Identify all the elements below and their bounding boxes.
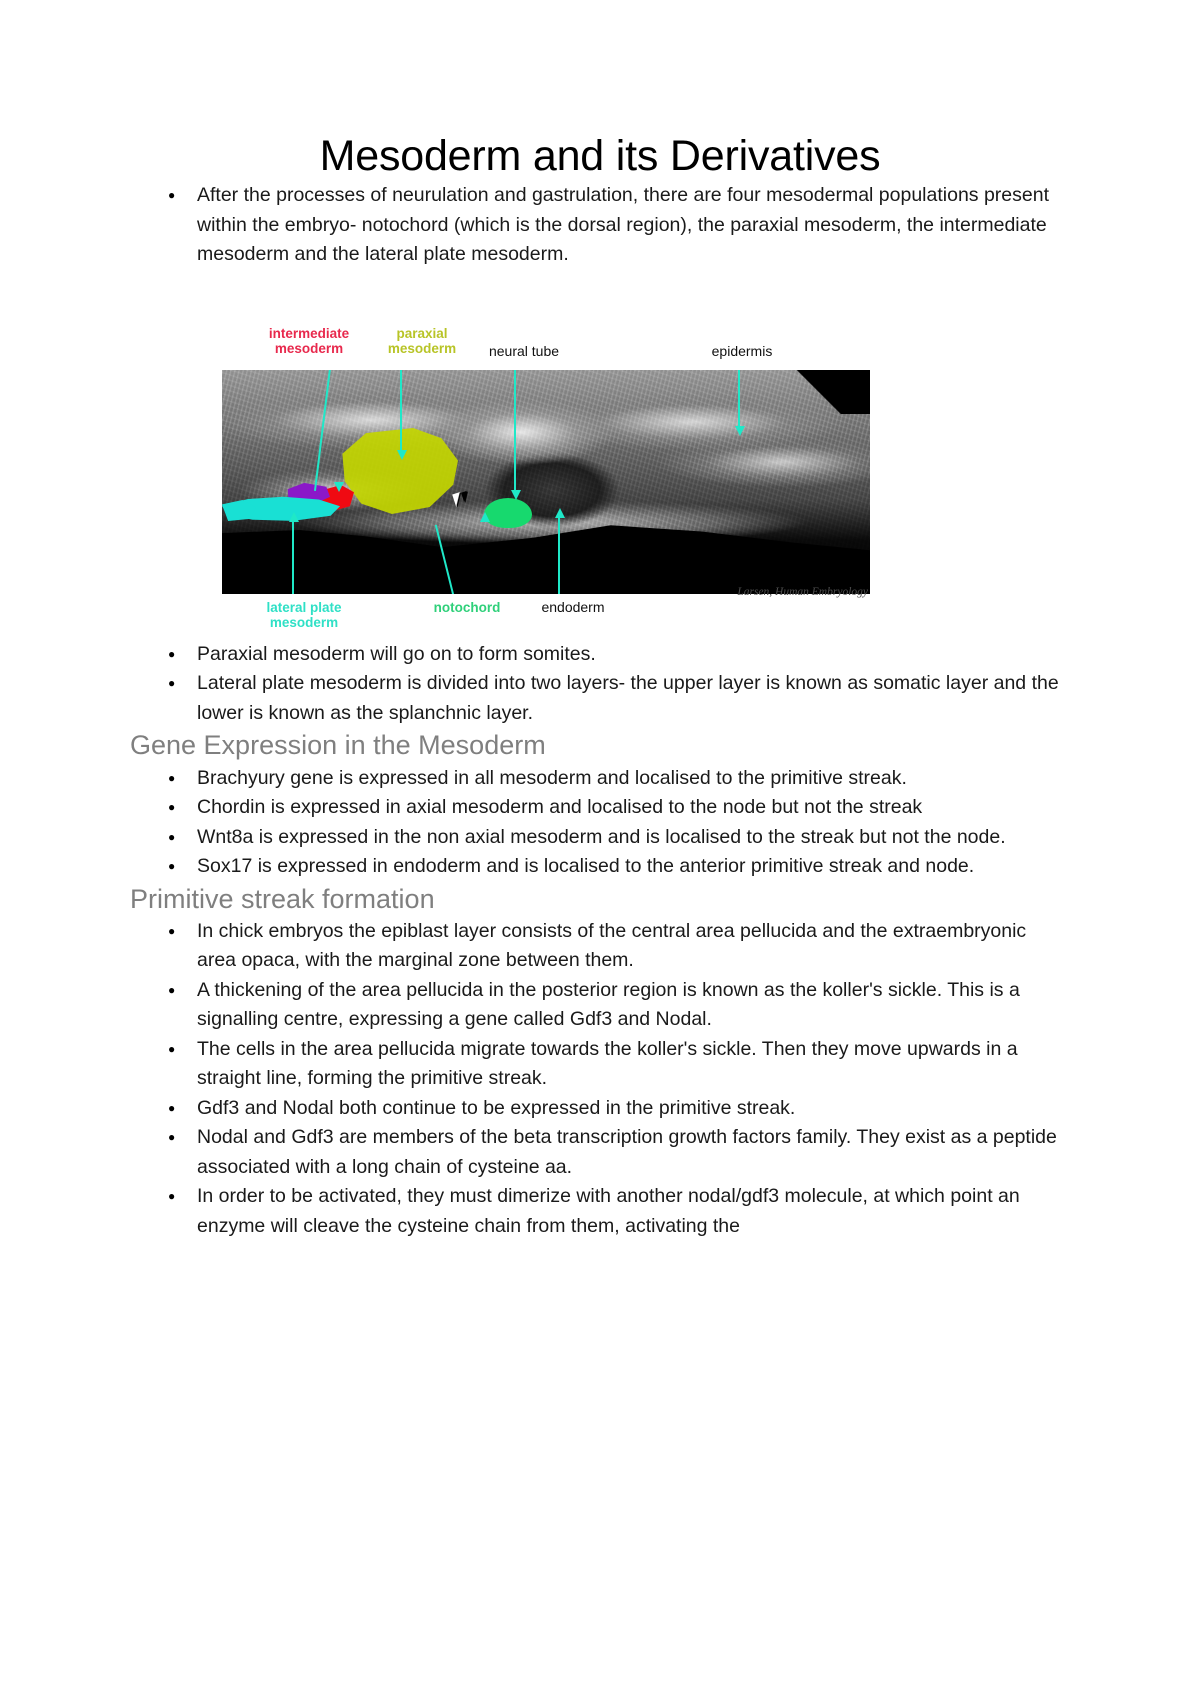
list-item: Nodal and Gdf3 are members of the beta t… [130, 1123, 1070, 1182]
document-page: Mesoderm and its Derivatives After the p… [0, 0, 1200, 1698]
arrowhead-endoderm [555, 508, 565, 518]
list-item: The cells in the area pellucida migrate … [130, 1035, 1070, 1094]
list-item: Lateral plate mesoderm is divided into t… [130, 669, 1070, 728]
figure-label-endoderm: endoderm [518, 600, 628, 615]
figure-top-labels: intermediate mesoderm paraxial mesoderm … [222, 318, 874, 370]
embryo-cross-section-figure: intermediate mesoderm paraxial mesoderm … [222, 318, 874, 640]
primitive-streak-bullet-list: In chick embryos the epiblast layer cons… [130, 917, 1070, 1242]
figure-label-neural-tube: neural tube [464, 344, 584, 359]
list-item: In order to be activated, they must dime… [130, 1182, 1070, 1241]
section-heading-primitive-streak: Primitive streak formation [130, 882, 1070, 917]
figure-label-paraxial-mesoderm: paraxial mesoderm [370, 326, 474, 356]
arrow-endoderm [558, 516, 560, 594]
list-item: Brachyury gene is expressed in all mesod… [130, 764, 1070, 794]
figure-label-notochord: notochord [412, 600, 522, 615]
section-heading-gene-expression: Gene Expression in the Mesoderm [130, 728, 1070, 763]
list-item: Chordin is expressed in axial mesoderm a… [130, 793, 1070, 823]
list-item: A thickening of the area pellucida in th… [130, 976, 1070, 1035]
arrowhead-intermediate-mesoderm [334, 482, 344, 492]
micrograph-dark-corner [782, 370, 870, 414]
list-item: Sox17 is expressed in endoderm and is lo… [130, 852, 1070, 882]
document-content: Mesoderm and its Derivatives After the p… [130, 0, 1070, 1241]
micrograph-image [222, 370, 870, 594]
arrow-epidermis [738, 370, 740, 430]
arrow-neural-tube [514, 370, 516, 496]
arrowhead-notochord [480, 512, 490, 522]
list-item: After the processes of neurulation and g… [130, 181, 1070, 270]
list-item: Gdf3 and Nodal both continue to be expre… [130, 1094, 1070, 1124]
figure-label-epidermis: epidermis [682, 344, 802, 359]
arrowhead-epidermis [735, 426, 745, 436]
list-item: Wnt8a is expressed in the non axial meso… [130, 823, 1070, 853]
intro-bullet-list: After the processes of neurulation and g… [130, 181, 1070, 270]
figure-label-intermediate-mesoderm: intermediate mesoderm [254, 326, 364, 356]
page-title: Mesoderm and its Derivatives [130, 0, 1070, 181]
notochord-region [484, 498, 532, 528]
figure-credit: Larsen, Human Embryology [737, 586, 868, 598]
after-figure-bullet-list: Paraxial mesoderm will go on to form som… [130, 640, 1070, 729]
arrowhead-paraxial-mesoderm [397, 450, 407, 460]
figure-bottom-labels: lateral plate mesoderm notochord endoder… [222, 600, 874, 642]
arrow-paraxial-mesoderm [400, 370, 402, 454]
arrow-lateral-plate-mesoderm [292, 520, 294, 594]
figure-label-lateral-plate-mesoderm: lateral plate mesoderm [244, 600, 364, 630]
arrowhead-lateral-plate-mesoderm [289, 512, 299, 522]
list-item: Paraxial mesoderm will go on to form som… [130, 640, 1070, 670]
list-item: In chick embryos the epiblast layer cons… [130, 917, 1070, 976]
arrowhead-neural-tube [511, 490, 521, 500]
gene-expression-bullet-list: Brachyury gene is expressed in all mesod… [130, 764, 1070, 882]
